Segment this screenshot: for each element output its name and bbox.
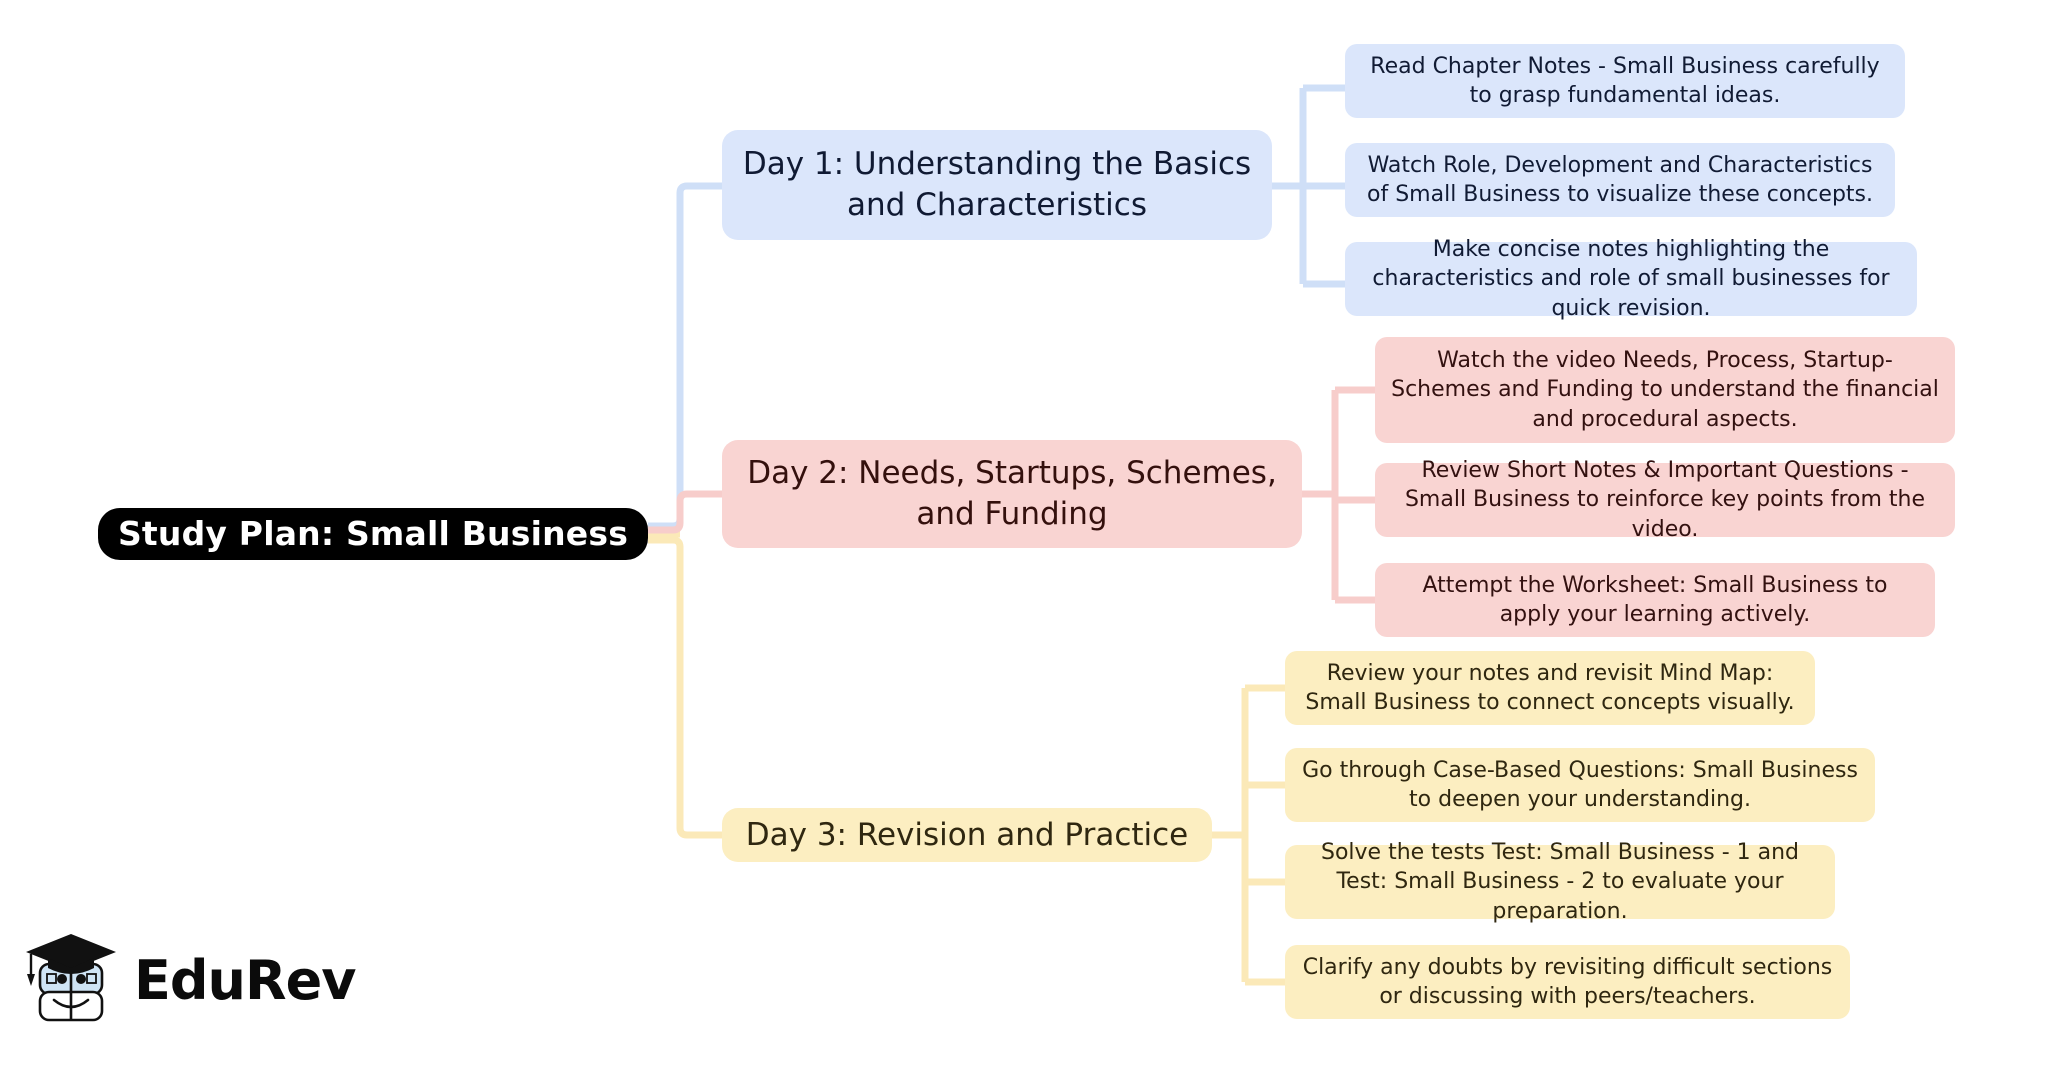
leaf-node-day-3-3[interactable]: Solve the tests Test: Small Business - 1… (1285, 845, 1835, 919)
branch-node-day-2[interactable]: Day 2: Needs, Startups, Schemes, and Fun… (722, 440, 1302, 548)
branch-node-day-3-label: Day 3: Revision and Practice (746, 815, 1189, 856)
leaf-node-day-1-1-label: Read Chapter Notes - Small Business care… (1361, 52, 1889, 110)
leaf-node-day-1-2[interactable]: Watch Role, Development and Characterist… (1345, 143, 1895, 217)
branch-node-day-1[interactable]: Day 1: Understanding the Basics and Char… (722, 130, 1272, 240)
edge-root-day-1 (648, 186, 722, 526)
leaf-node-day-1-1[interactable]: Read Chapter Notes - Small Business care… (1345, 44, 1905, 118)
branch-node-day-2-label: Day 2: Needs, Startups, Schemes, and Fun… (738, 453, 1286, 535)
leaf-node-day-2-1-label: Watch the video Needs, Process, Startup-… (1391, 346, 1939, 433)
edurev-wordmark: EduRev (134, 949, 355, 1012)
leaf-node-day-1-2-label: Watch Role, Development and Characterist… (1361, 151, 1879, 209)
leaf-node-day-1-3[interactable]: Make concise notes highlighting the char… (1345, 242, 1917, 316)
leaf-node-day-2-1[interactable]: Watch the video Needs, Process, Startup-… (1375, 337, 1955, 443)
leaf-node-day-2-2[interactable]: Review Short Notes & Important Questions… (1375, 463, 1955, 537)
leaf-node-day-3-4[interactable]: Clarify any doubts by revisiting difficu… (1285, 945, 1850, 1019)
root-node-label: Study Plan: Small Business (118, 512, 628, 556)
leaf-node-day-3-1-label: Review your notes and revisit Mind Map: … (1301, 659, 1799, 717)
graduation-cap-mascot-icon (24, 930, 120, 1030)
leaf-node-day-3-2-label: Go through Case-Based Questions: Small B… (1301, 756, 1859, 814)
edge-root-day-2 (648, 494, 722, 530)
leaf-node-day-2-2-label: Review Short Notes & Important Questions… (1391, 456, 1939, 543)
root-node[interactable]: Study Plan: Small Business (98, 508, 648, 560)
branch-node-day-3[interactable]: Day 3: Revision and Practice (722, 808, 1212, 862)
leaf-node-day-1-3-label: Make concise notes highlighting the char… (1361, 235, 1901, 322)
leaf-node-day-3-4-label: Clarify any doubts by revisiting difficu… (1301, 953, 1834, 1011)
leaf-node-day-2-3-label: Attempt the Worksheet: Small Business to… (1391, 571, 1919, 629)
edge-root-day-3 (648, 540, 722, 835)
leaf-node-day-3-3-label: Solve the tests Test: Small Business - 1… (1301, 838, 1819, 925)
branch-node-day-1-label: Day 1: Understanding the Basics and Char… (738, 144, 1256, 226)
mindmap-canvas: Study Plan: Small Business Day 1: Unders… (0, 0, 2052, 1067)
leaf-node-day-3-1[interactable]: Review your notes and revisit Mind Map: … (1285, 651, 1815, 725)
edurev-logo: EduRev (24, 925, 324, 1035)
leaf-node-day-3-2[interactable]: Go through Case-Based Questions: Small B… (1285, 748, 1875, 822)
leaf-node-day-2-3[interactable]: Attempt the Worksheet: Small Business to… (1375, 563, 1935, 637)
